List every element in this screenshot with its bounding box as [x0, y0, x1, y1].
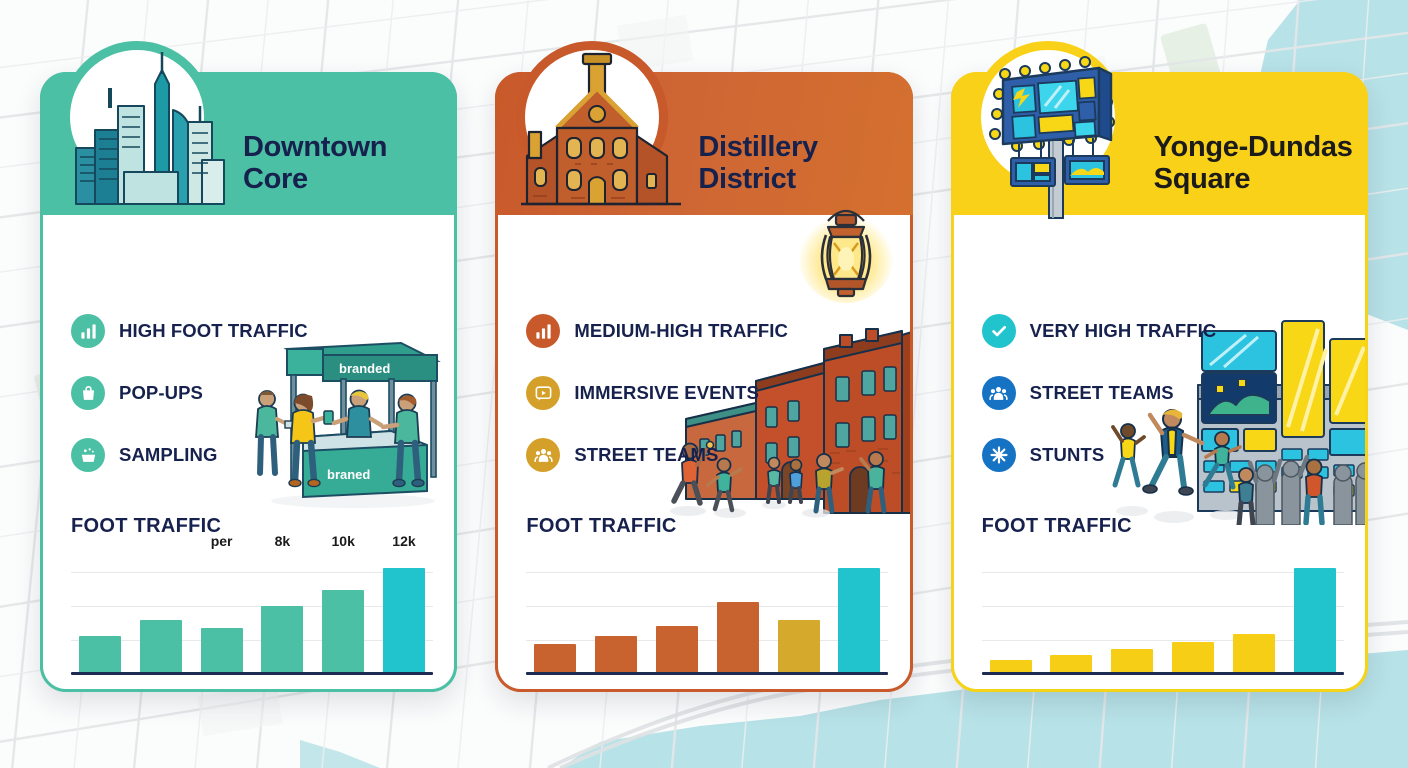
bar: [1233, 634, 1275, 672]
feature-item[interactable]: STREET TEAMS: [526, 431, 788, 479]
check-circle-icon: [982, 314, 1016, 348]
bar-item: [656, 553, 698, 672]
bar-item: [1172, 553, 1214, 672]
bar: [1111, 649, 1153, 672]
bar: [1294, 568, 1336, 672]
feature-label: STREET TEAMS: [1030, 382, 1174, 404]
feature-item[interactable]: SAMPLING: [71, 431, 308, 479]
chart-title: FOOT TRAFFIC: [982, 515, 1132, 538]
feature-item[interactable]: VERY HIGH TRAFFIC: [982, 307, 1217, 355]
card-title: Distillery District: [698, 131, 913, 196]
card-body-panel: VERY HIGH TRAFFIC STREET TEAMS STUNTS: [951, 215, 1368, 692]
shopping-bag-icon: [71, 376, 105, 410]
feature-label: POP-UPS: [119, 382, 203, 404]
sampling-basket-icon: [71, 438, 105, 472]
bar-item: [534, 553, 576, 672]
bar: [383, 568, 425, 672]
people-group-icon: [982, 376, 1016, 410]
bar: [322, 590, 364, 672]
bar-item: [1294, 553, 1336, 672]
feature-label: IMMERSIVE EVENTS: [574, 382, 759, 404]
starburst-icon: [982, 438, 1016, 472]
bar-chart-icon: [526, 314, 560, 348]
bar: [778, 620, 820, 672]
bar: [656, 626, 698, 672]
bar-group: [534, 553, 880, 672]
district-card-downtown-core[interactable]: HIGH FOOT TRAFFIC POP-UPS SAMPLING: [40, 72, 457, 692]
play-event-icon: [526, 376, 560, 410]
card-body-panel: HIGH FOOT TRAFFIC POP-UPS SAMPLING: [40, 215, 457, 692]
bar: [717, 602, 759, 672]
bar-item: 8k: [261, 553, 303, 672]
bar-value-label: per: [211, 533, 233, 549]
bar-item: [595, 553, 637, 672]
bar-item: [140, 553, 182, 672]
bar: [261, 606, 303, 672]
feature-label: VERY HIGH TRAFFIC: [1030, 320, 1217, 342]
bar-value-label: 10k: [332, 533, 355, 549]
bar: [1050, 655, 1092, 672]
card-title: Yonge-Dundas Square: [1154, 131, 1369, 196]
skyline-icon: [58, 44, 234, 220]
bar-group: per 8k 10k 12k: [79, 553, 425, 672]
bar-item: 12k: [383, 553, 425, 672]
bar: [79, 636, 121, 672]
bar-item: 10k: [322, 553, 364, 672]
bar: [1172, 642, 1214, 672]
chart-baseline: [982, 672, 1344, 675]
counter-text: braned: [327, 467, 370, 482]
foot-traffic-chart: per 8k 10k 12k: [71, 553, 433, 675]
bar-item: [79, 553, 121, 672]
chart-title: FOOT TRAFFIC: [71, 515, 221, 538]
district-card-yonge-dundas-square[interactable]: VERY HIGH TRAFFIC STREET TEAMS STUNTS: [951, 72, 1368, 692]
feature-item[interactable]: HIGH FOOT TRAFFIC: [71, 307, 308, 355]
district-card-distillery-district[interactable]: MEDIUM-HIGH TRAFFIC IMMERSIVE EVENTS STR…: [495, 72, 912, 692]
bar: [990, 660, 1032, 672]
bar: [838, 568, 880, 672]
bar-item: [838, 553, 880, 672]
bar-item: [1233, 553, 1275, 672]
feature-label: SAMPLING: [119, 444, 217, 466]
foot-traffic-chart: [526, 553, 888, 675]
billboard-icon: [969, 44, 1145, 220]
bar-item: [778, 553, 820, 672]
foot-traffic-chart: [982, 553, 1344, 675]
feature-list: HIGH FOOT TRAFFIC POP-UPS SAMPLING: [71, 307, 308, 493]
feature-item[interactable]: STUNTS: [982, 431, 1217, 479]
distillery-building-icon: [513, 44, 689, 220]
feature-label: STREET TEAMS: [574, 444, 718, 466]
card-title: Downtown Core: [243, 131, 458, 196]
bar: [201, 628, 243, 672]
bar-item: [1111, 553, 1153, 672]
district-card-row: HIGH FOOT TRAFFIC POP-UPS SAMPLING: [0, 0, 1408, 768]
bar: [595, 636, 637, 672]
chart-baseline: [71, 672, 433, 675]
bar-item: per: [201, 553, 243, 672]
district-badge: [516, 41, 668, 193]
district-badge: [61, 41, 213, 193]
feature-label: STUNTS: [1030, 444, 1105, 466]
people-group-icon: [526, 438, 560, 472]
bar: [140, 620, 182, 672]
feature-list: MEDIUM-HIGH TRAFFIC IMMERSIVE EVENTS STR…: [526, 307, 788, 493]
bar-chart-icon: [71, 314, 105, 348]
canopy-text: branded: [339, 361, 390, 376]
feature-item[interactable]: STREET TEAMS: [982, 369, 1217, 417]
bar-item: [717, 553, 759, 672]
card-body-panel: MEDIUM-HIGH TRAFFIC IMMERSIVE EVENTS STR…: [495, 215, 912, 692]
feature-item[interactable]: POP-UPS: [71, 369, 308, 417]
bar-item: [990, 553, 1032, 672]
feature-list: VERY HIGH TRAFFIC STREET TEAMS STUNTS: [982, 307, 1217, 493]
feature-item[interactable]: MEDIUM-HIGH TRAFFIC: [526, 307, 788, 355]
feature-label: MEDIUM-HIGH TRAFFIC: [574, 320, 788, 342]
bar: [534, 644, 576, 672]
bar-value-label: 12k: [392, 533, 415, 549]
bar-group: [990, 553, 1336, 672]
feature-label: HIGH FOOT TRAFFIC: [119, 320, 308, 342]
feature-item[interactable]: IMMERSIVE EVENTS: [526, 369, 788, 417]
chart-title: FOOT TRAFFIC: [526, 515, 676, 538]
chart-baseline: [526, 672, 888, 675]
district-badge: [972, 41, 1124, 193]
bar-value-label: 8k: [275, 533, 291, 549]
bar-item: [1050, 553, 1092, 672]
